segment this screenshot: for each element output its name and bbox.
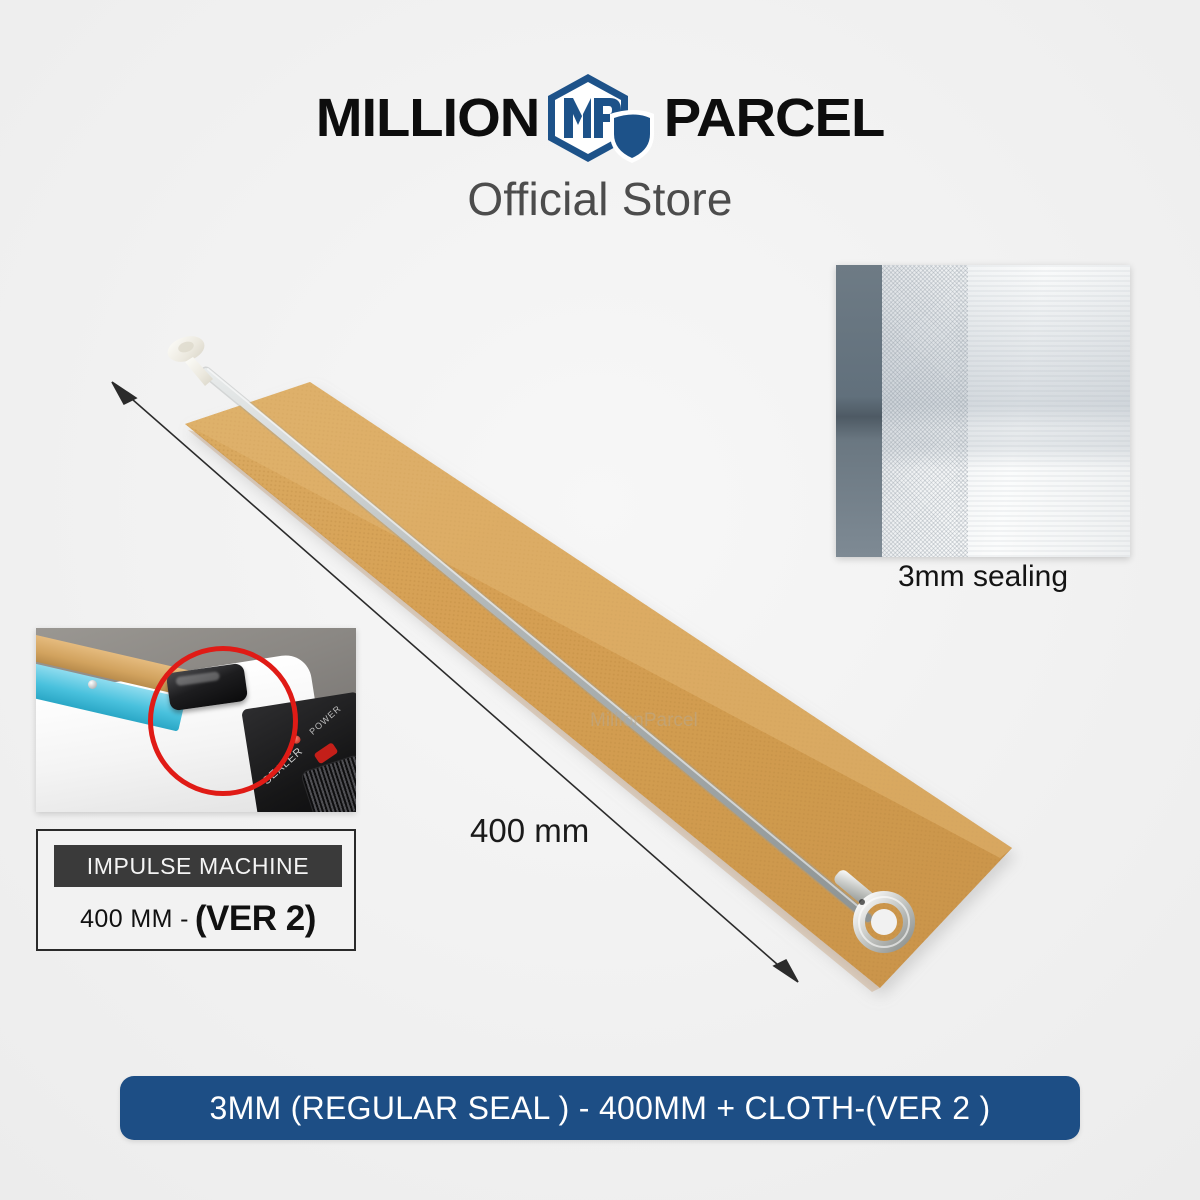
- brand-name-right: PARCEL: [664, 91, 884, 145]
- brand-name-left: MILLION: [315, 91, 539, 145]
- label-band: IMPULSE MACHINE: [54, 845, 342, 887]
- machine-panel-label-2: POWER: [307, 703, 343, 737]
- brand-header: MILLION PARCEL Official Store: [0, 78, 1200, 226]
- label-version-text: (VER 2): [195, 899, 316, 939]
- watermark: MillionParcel: [590, 710, 698, 732]
- product-variant-text: 3MM (REGULAR SEAL ) - 400MM + CLOTH-(VER…: [209, 1090, 990, 1127]
- label-band-text: IMPULSE MACHINE: [87, 853, 309, 880]
- logo-row: MILLION PARCEL: [0, 78, 1200, 158]
- seal-horizontal-lines: [956, 265, 1130, 557]
- machine-dial-knob: [300, 754, 356, 812]
- mp-shield-logo-icon: [542, 72, 660, 164]
- machine-screw: [88, 680, 97, 689]
- store-subtitle: Official Store: [0, 172, 1200, 226]
- product-label-box: IMPULSE MACHINE 400 MM - (VER 2): [36, 829, 356, 951]
- product-variant-banner: 3MM (REGULAR SEAL ) - 400MM + CLOTH-(VER…: [120, 1076, 1080, 1140]
- red-circle-highlight-icon: [148, 646, 298, 796]
- seal-edge-strip: [836, 265, 882, 557]
- seal-caption: 3mm sealing: [836, 560, 1130, 594]
- product-image-canvas: MILLION PARCEL Official Store: [0, 0, 1200, 1200]
- machine-photo-inset: SEALER POWER: [36, 628, 356, 812]
- label-size-row: 400 MM - (VER 2): [38, 893, 358, 945]
- label-size-text: 400 MM -: [80, 905, 189, 934]
- dimension-label: 400 mm: [470, 812, 589, 850]
- seal-closeup-inset: [836, 265, 1130, 557]
